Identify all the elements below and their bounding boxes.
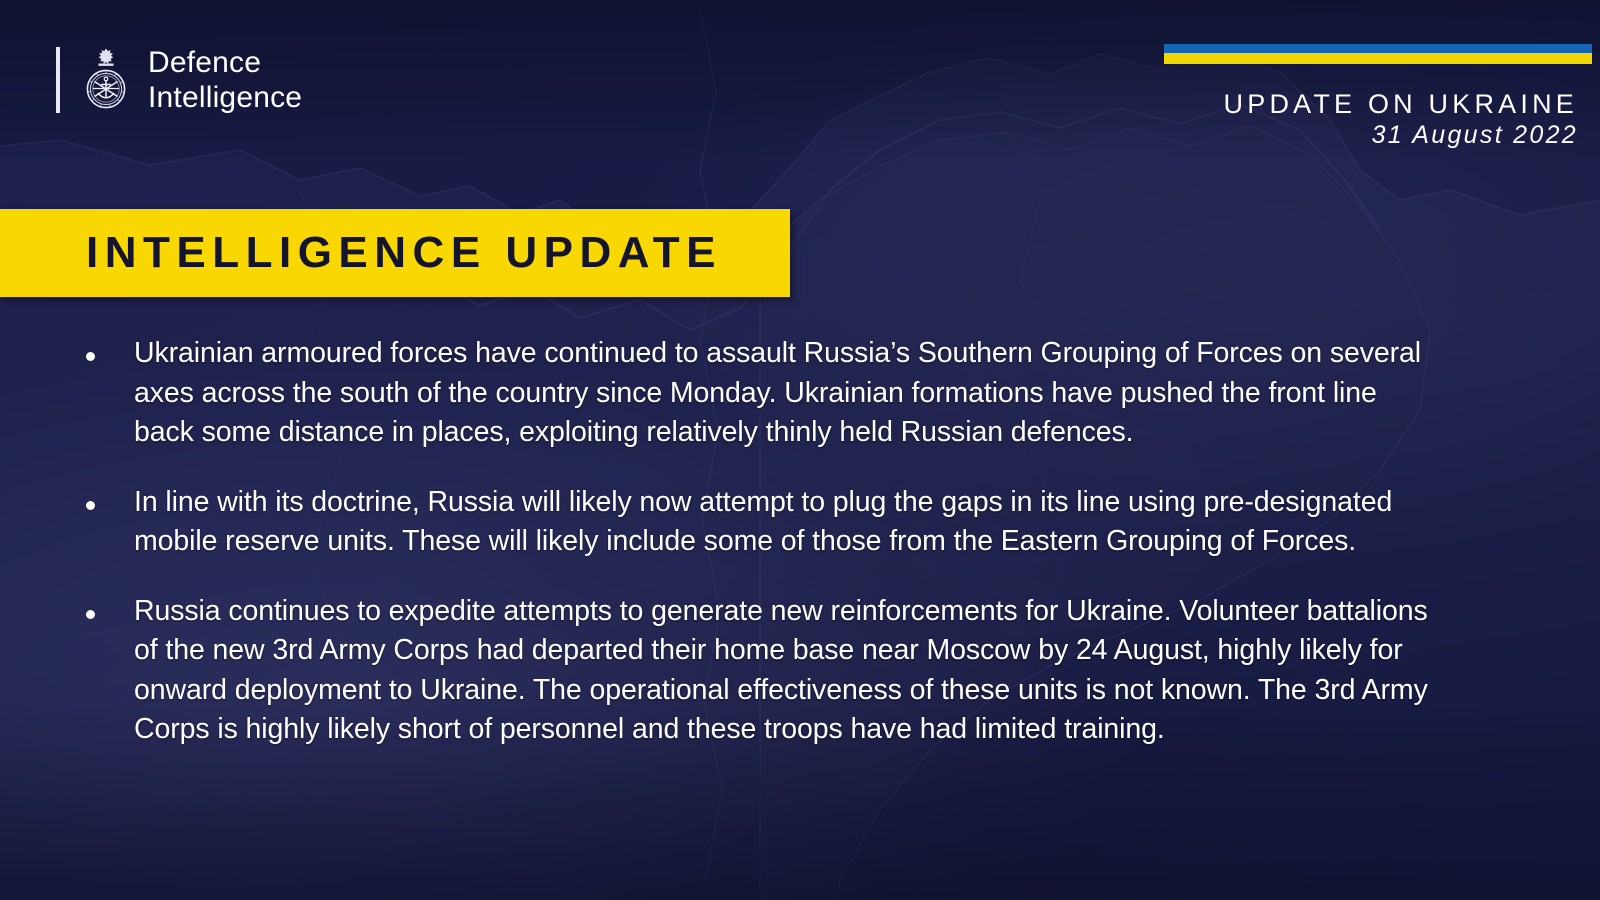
logo-divider-rule bbox=[56, 47, 60, 113]
update-title: UPDATE ON UKRAINE bbox=[1092, 90, 1592, 118]
bullet-dot-icon bbox=[86, 610, 95, 619]
banner-label: INTELLIGENCE UPDATE bbox=[0, 228, 722, 278]
intelligence-update-banner: INTELLIGENCE UPDATE bbox=[0, 209, 790, 297]
flag-stripe-yellow bbox=[1164, 53, 1592, 64]
intelligence-update-slide: Defence Intelligence UPDATE ON UKRAINE 3… bbox=[0, 0, 1600, 900]
list-item: Russia continues to expedite attempts to… bbox=[86, 592, 1516, 750]
bullet-dot-icon bbox=[86, 501, 95, 510]
bullet-text: Ukrainian armoured forces have continued… bbox=[134, 334, 1434, 453]
list-item: In line with its doctrine, Russia will l… bbox=[86, 483, 1516, 562]
logo-line-defence: Defence bbox=[148, 45, 302, 80]
logo-line-intelligence: Intelligence bbox=[148, 80, 302, 115]
defence-intelligence-logo: Defence Intelligence bbox=[56, 44, 302, 116]
header-right-block: UPDATE ON UKRAINE 31 August 2022 bbox=[1092, 44, 1592, 152]
list-item: Ukrainian armoured forces have continued… bbox=[86, 334, 1516, 453]
bullet-list: Ukrainian armoured forces have continued… bbox=[86, 334, 1516, 750]
bullet-text: In line with its doctrine, Russia will l… bbox=[134, 483, 1394, 562]
mod-crest-icon bbox=[78, 47, 134, 113]
bullet-dot-icon bbox=[86, 352, 95, 361]
update-date: 31 August 2022 bbox=[1092, 120, 1592, 151]
ukraine-flag-bar-icon bbox=[1164, 44, 1592, 64]
logo-wordmark: Defence Intelligence bbox=[148, 45, 302, 116]
bullet-text: Russia continues to expedite attempts to… bbox=[134, 592, 1434, 750]
flag-stripe-blue bbox=[1164, 44, 1592, 53]
